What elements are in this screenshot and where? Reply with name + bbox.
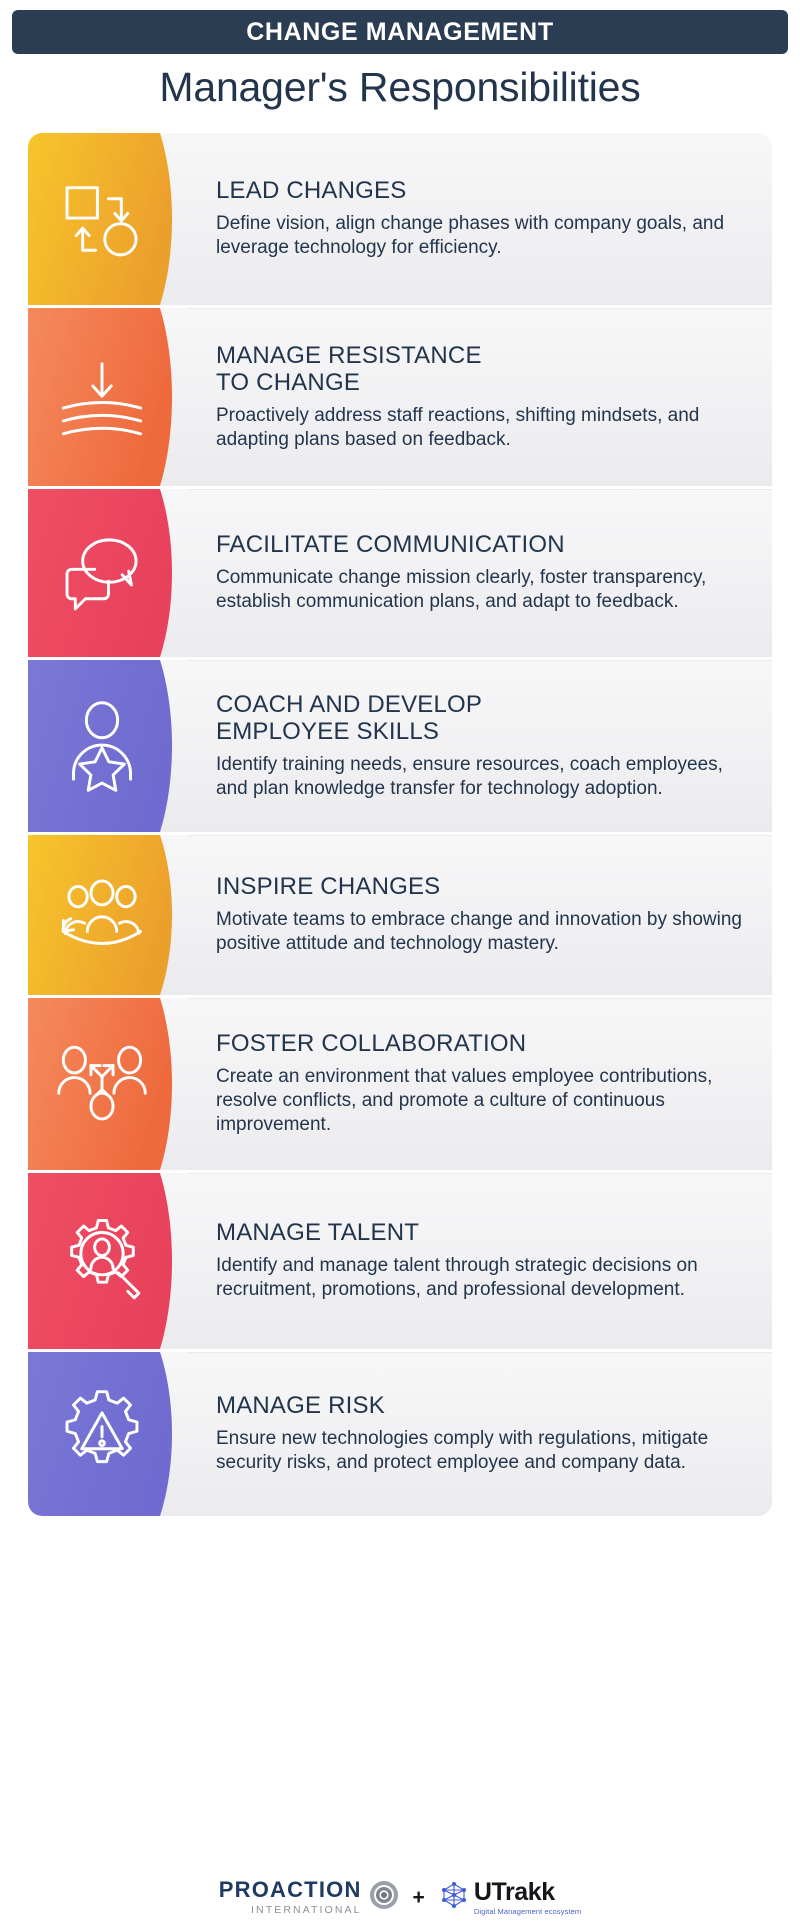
three-people-connection-icon — [54, 1036, 150, 1132]
row-title: MANAGE RESISTANCE TO CHANGE — [216, 342, 746, 398]
row-divider — [188, 489, 772, 490]
row-divider — [188, 998, 772, 999]
responsibility-row: INSPIRE CHANGESMotivate teams to embrace… — [28, 835, 772, 995]
footer-brands: PROACTION INTERNATIONAL + — [0, 1879, 800, 1916]
downward-arrow-resistance-icon — [54, 349, 150, 445]
responsibility-row: FOSTER COLLABORATIONCreate an environmen… — [28, 998, 772, 1170]
responsibility-row: MANAGE RISKEnsure new technologies compl… — [28, 1352, 772, 1516]
plus-separator: + — [413, 1886, 425, 1910]
row-description: Ensure new technologies comply with regu… — [216, 1427, 746, 1475]
row-title: INSPIRE CHANGES — [216, 873, 746, 901]
row-title: MANAGE RISK — [216, 1392, 746, 1420]
proaction-name: PROACTION — [219, 1879, 362, 1901]
person-with-star-icon — [54, 698, 150, 794]
utrakk-name: UTrakk — [474, 1880, 581, 1905]
header: CHANGE MANAGEMENT Manager's Responsibili… — [0, 0, 800, 111]
responsibility-row: COACH AND DEVELOP EMPLOYEE SKILLSIdentif… — [28, 660, 772, 832]
infographic-page: CHANGE MANAGEMENT Manager's Responsibili… — [0, 0, 800, 1930]
row-description: Create an environment that values employ… — [216, 1065, 746, 1137]
speech-bubbles-icon — [54, 525, 150, 621]
square-to-circle-transform-icon — [54, 171, 150, 267]
row-color-block — [28, 835, 188, 995]
row-title: LEAD CHANGES — [216, 177, 746, 205]
gear-warning-triangle-icon — [54, 1386, 150, 1482]
row-divider — [188, 1173, 772, 1174]
row-color-block — [28, 998, 188, 1170]
row-title: COACH AND DEVELOP EMPLOYEE SKILLS — [216, 691, 746, 747]
gear-person-magnifier-icon — [54, 1213, 150, 1309]
row-divider — [188, 835, 772, 836]
row-content: MANAGE TALENTIdentify and manage talent … — [188, 1173, 772, 1349]
utrakk-wordmark: UTrakk Digital Management ecosystem — [474, 1880, 581, 1916]
proaction-logo: PROACTION INTERNATIONAL — [219, 1879, 399, 1916]
utrakk-logo: UTrakk Digital Management ecosystem — [439, 1880, 581, 1916]
proaction-wordmark: PROACTION INTERNATIONAL — [219, 1879, 362, 1916]
proaction-subtitle: INTERNATIONAL — [219, 1904, 362, 1916]
responsibility-row: MANAGE RESISTANCE TO CHANGEProactively a… — [28, 308, 772, 486]
row-description: Communicate change mission clearly, fost… — [216, 566, 746, 614]
responsibility-row: FACILITATE COMMUNICATIONCommunicate chan… — [28, 489, 772, 657]
row-description: Identify training needs, ensure resource… — [216, 753, 746, 801]
row-color-block — [28, 660, 188, 832]
row-description: Proactively address staff reactions, shi… — [216, 404, 746, 452]
row-color-block — [28, 1352, 188, 1516]
proaction-spiral-icon — [369, 1880, 399, 1915]
row-content: COACH AND DEVELOP EMPLOYEE SKILLSIdentif… — [188, 660, 772, 832]
row-divider — [188, 308, 772, 309]
row-description: Define vision, align change phases with … — [216, 212, 746, 260]
row-color-block — [28, 308, 188, 486]
responsibility-row: MANAGE TALENTIdentify and manage talent … — [28, 1173, 772, 1349]
row-title: FOSTER COLLABORATION — [216, 1030, 746, 1058]
team-group-arrow-icon — [54, 867, 150, 963]
row-color-block — [28, 1173, 188, 1349]
row-divider — [188, 1352, 772, 1353]
row-content: MANAGE RESISTANCE TO CHANGEProactively a… — [188, 308, 772, 486]
row-content: LEAD CHANGESDefine vision, align change … — [188, 133, 772, 305]
responsibility-row: LEAD CHANGESDefine vision, align change … — [28, 133, 772, 305]
responsibility-list: LEAD CHANGESDefine vision, align change … — [28, 133, 772, 1516]
row-content: MANAGE RISKEnsure new technologies compl… — [188, 1352, 772, 1516]
utrakk-subtitle: Digital Management ecosystem — [474, 1907, 581, 1916]
row-content: INSPIRE CHANGESMotivate teams to embrace… — [188, 835, 772, 995]
row-color-block — [28, 133, 188, 305]
row-content: FOSTER COLLABORATIONCreate an environmen… — [188, 998, 772, 1170]
page-title: Manager's Responsibilities — [12, 64, 788, 111]
row-color-block — [28, 489, 188, 657]
row-divider — [188, 660, 772, 661]
row-description: Motivate teams to embrace change and inn… — [216, 908, 746, 956]
row-content: FACILITATE COMMUNICATIONCommunicate chan… — [188, 489, 772, 657]
row-title: FACILITATE COMMUNICATION — [216, 531, 746, 559]
row-title: MANAGE TALENT — [216, 1219, 746, 1247]
banner: CHANGE MANAGEMENT — [12, 10, 788, 54]
utrakk-network-icon — [439, 1880, 469, 1915]
banner-title: CHANGE MANAGEMENT — [246, 18, 553, 47]
row-description: Identify and manage talent through strat… — [216, 1254, 746, 1302]
